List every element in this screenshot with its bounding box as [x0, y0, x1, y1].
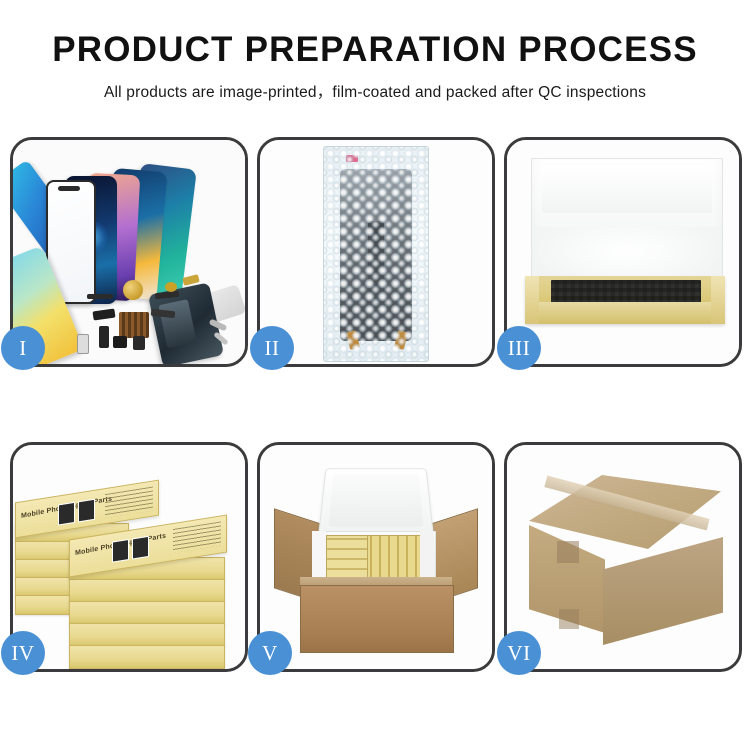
step-panel-2: II — [257, 137, 495, 367]
part-icon — [99, 326, 109, 348]
steps-grid: I II — [10, 137, 742, 672]
spec-lines — [105, 487, 153, 519]
step-image-1 — [13, 140, 245, 364]
tray-right-side — [711, 276, 725, 324]
box-edge — [69, 645, 225, 669]
product-preparation-infographic: PRODUCT PREPARATION PROCESS All products… — [0, 0, 750, 750]
spec-lines — [173, 521, 221, 553]
step-panel-3: III — [504, 137, 742, 367]
sim-tray-icon — [77, 334, 89, 354]
step-panel-4: Mobile Phone Spare Parts Mobile Phone Sp… — [10, 442, 248, 672]
step-image-3 — [507, 140, 739, 364]
step-badge-5: V — [248, 631, 292, 675]
step-image-5 — [260, 445, 492, 669]
speaker-coil-icon — [123, 280, 143, 300]
box-edge — [69, 579, 225, 603]
part-icon — [165, 282, 177, 292]
step-image-6 — [507, 445, 739, 669]
header: PRODUCT PREPARATION PROCESS All products… — [0, 0, 750, 102]
step-image-4: Mobile Phone Spare Parts Mobile Phone Sp… — [13, 445, 245, 669]
box-edge — [69, 601, 225, 625]
step-panel-5: V — [257, 442, 495, 672]
carton-right-face — [603, 537, 723, 645]
step-panel-1: I — [10, 137, 248, 367]
step-image-2 — [260, 140, 492, 364]
bubble-texture — [324, 147, 428, 361]
step-badge-2: II — [250, 326, 294, 370]
step-badge-1: I — [1, 326, 45, 370]
carton-body-icon — [300, 585, 454, 653]
part-icon — [133, 336, 145, 350]
phone-thumbnail-icon — [78, 499, 95, 523]
box-stack-icon: Mobile Phone Spare Parts Mobile Phone Sp… — [13, 445, 245, 669]
page-subtitle: All products are image-printed，film-coat… — [0, 80, 750, 102]
foam-padding-icon — [531, 158, 723, 290]
part-icon — [113, 336, 127, 348]
phone-thumbnail-icon — [112, 539, 129, 563]
bubble-wrapped-content-icon — [551, 280, 701, 304]
part-icon — [87, 294, 113, 299]
part-icon — [92, 309, 115, 321]
foam-cooler-lid-icon — [318, 468, 434, 536]
box-edge — [69, 623, 225, 647]
step-badge-6: VI — [497, 631, 541, 675]
page-title: PRODUCT PREPARATION PROCESS — [0, 32, 750, 67]
inner-box-tray-icon — [525, 276, 725, 324]
tray-left-side — [525, 276, 539, 324]
phone-thumbnail-icon — [58, 502, 75, 526]
step-badge-4: IV — [1, 631, 45, 675]
connector-grid-icon — [119, 312, 149, 338]
carton-tab — [559, 609, 579, 629]
step-badge-3: III — [497, 326, 541, 370]
bubble-wrap-bag-icon — [323, 146, 429, 362]
phone-thumbnail-icon — [132, 536, 149, 560]
carton-tab — [557, 541, 579, 563]
tray-front-panel — [525, 302, 725, 324]
step-panel-6: VI — [504, 442, 742, 672]
